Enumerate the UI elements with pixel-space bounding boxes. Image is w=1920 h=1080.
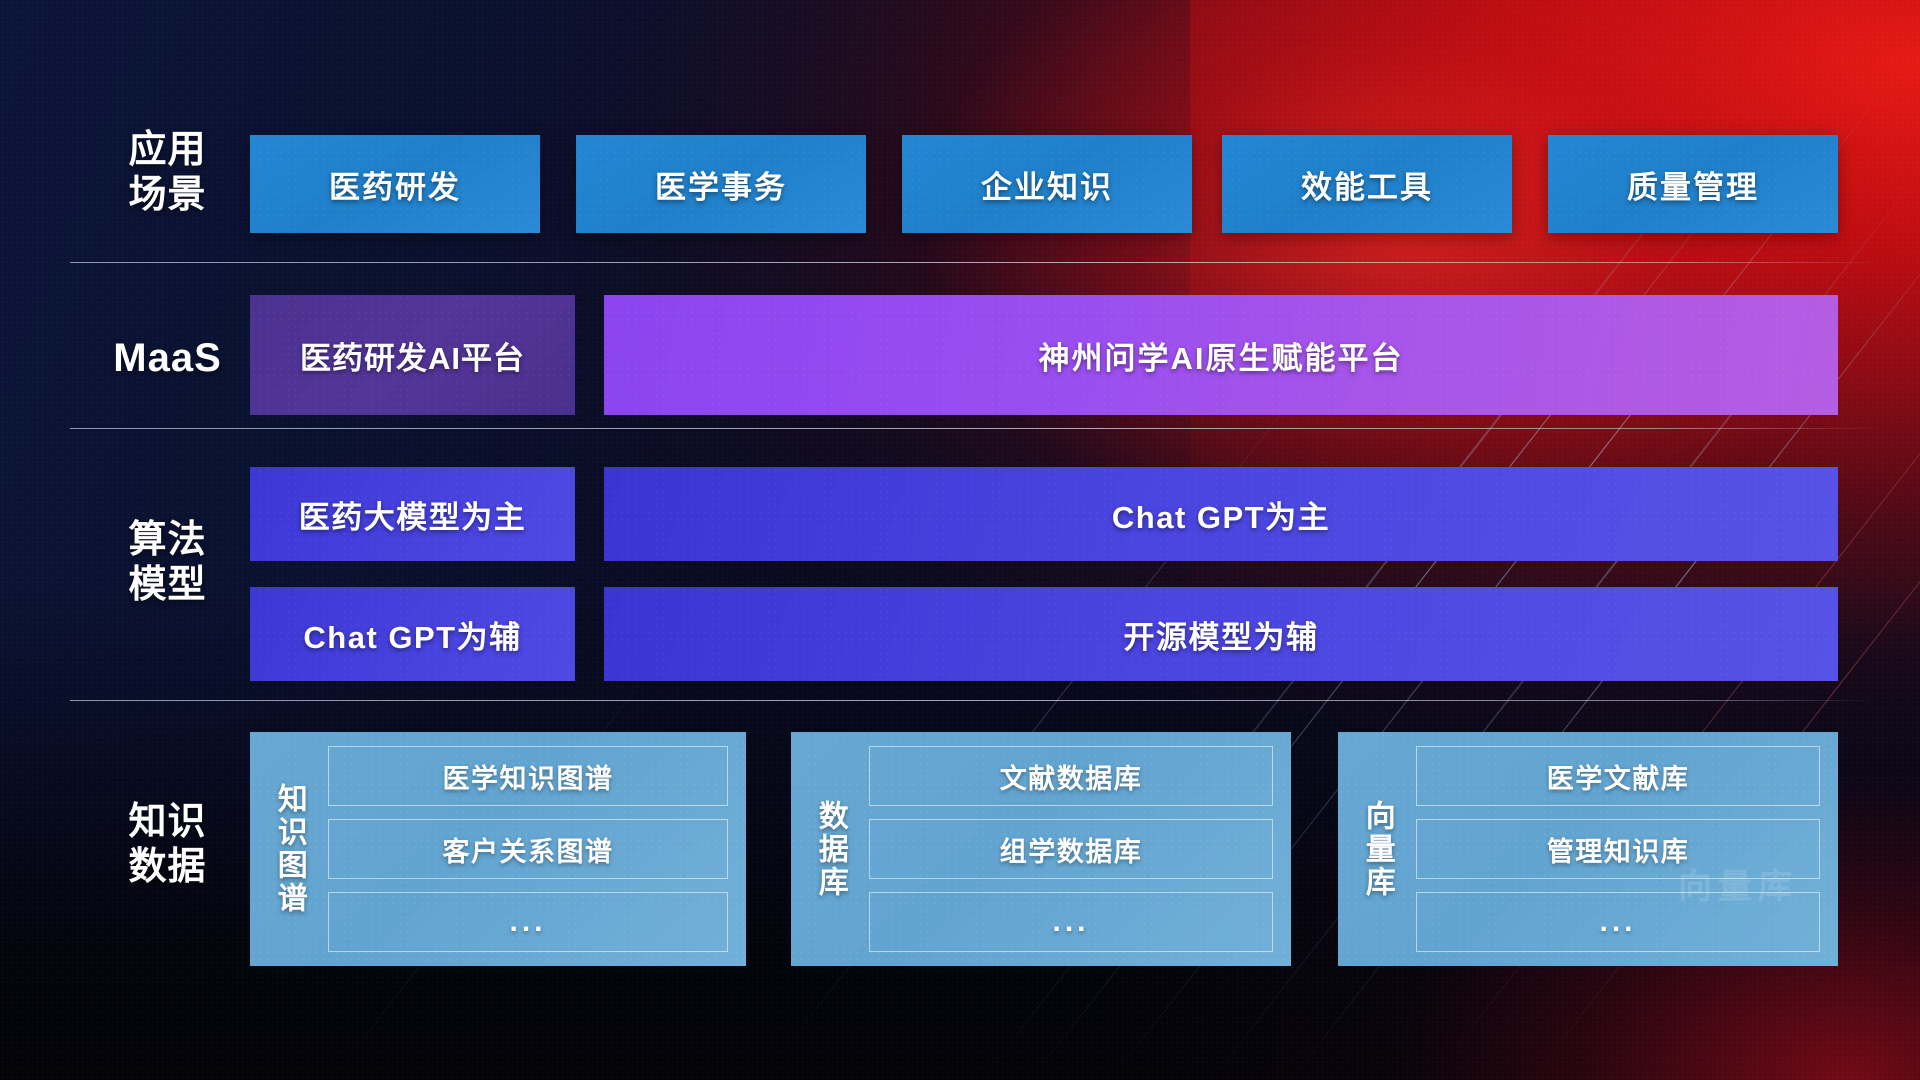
knowledge-item-more[interactable]: ...: [328, 892, 728, 952]
app-card-1-label: 医药研发: [329, 162, 461, 207]
row-label-algorithm: 算法 模型: [85, 518, 250, 608]
algo-card-chatgpt-secondary-label: Chat GPT为辅: [303, 612, 521, 657]
knowledge-item-more[interactable]: ...: [1416, 892, 1820, 952]
app-card-5-label: 质量管理: [1627, 162, 1759, 207]
algo-card-chatgpt-secondary[interactable]: Chat GPT为辅: [250, 587, 575, 681]
knowledge-item-more[interactable]: ...: [869, 892, 1273, 952]
algo-card-opensource-secondary-label: 开源模型为辅: [1124, 612, 1319, 657]
app-card-1[interactable]: 医药研发: [250, 135, 540, 233]
app-card-3[interactable]: 企业知识: [902, 135, 1192, 233]
app-card-5[interactable]: 质量管理: [1548, 135, 1838, 233]
row-label-maas: MaaS: [85, 335, 250, 382]
knowledge-item[interactable]: 医学知识图谱: [328, 746, 728, 806]
knowledge-panel-graph-items: 医学知识图谱 客户关系图谱 ...: [328, 746, 728, 952]
row-label-application: 应用 场景: [85, 128, 250, 218]
knowledge-panel-vector-title: 向量库: [1338, 746, 1416, 952]
app-card-4-label: 效能工具: [1301, 162, 1433, 207]
knowledge-item[interactable]: 医学文献库: [1416, 746, 1820, 806]
knowledge-panel-graph[interactable]: 知识图谱 医学知识图谱 客户关系图谱 ...: [250, 732, 746, 966]
maas-card-drug-ai-platform[interactable]: 医药研发AI平台: [250, 295, 575, 415]
divider-algorithm-knowledge: [70, 700, 1880, 701]
knowledge-panel-vector-items: 医学文献库 管理知识库 ...: [1416, 746, 1820, 952]
algo-card-chatgpt-primary-label: Chat GPT为主: [1112, 492, 1330, 537]
maas-card-shenzhou-platform[interactable]: 神州问学AI原生赋能平台: [604, 295, 1838, 415]
maas-card-drug-ai-platform-label: 医药研发AI平台: [300, 333, 525, 378]
algo-card-drug-model-primary-label: 医药大模型为主: [299, 492, 527, 537]
divider-maas-algorithm: [70, 428, 1880, 429]
divider-application-maas: [70, 262, 1880, 263]
knowledge-panel-database[interactable]: 数据库 文献数据库 组学数据库 ...: [791, 732, 1291, 966]
maas-card-shenzhou-platform-label: 神州问学AI原生赋能平台: [1039, 333, 1404, 378]
row-label-knowledge: 知识 数据: [85, 800, 250, 890]
knowledge-panel-database-title: 数据库: [791, 746, 869, 952]
knowledge-item[interactable]: 客户关系图谱: [328, 819, 728, 879]
app-card-2[interactable]: 医学事务: [576, 135, 866, 233]
algo-card-drug-model-primary[interactable]: 医药大模型为主: [250, 467, 575, 561]
algo-card-chatgpt-primary[interactable]: Chat GPT为主: [604, 467, 1838, 561]
knowledge-panel-graph-title: 知识图谱: [250, 746, 328, 952]
app-card-3-label: 企业知识: [981, 162, 1113, 207]
app-card-4[interactable]: 效能工具: [1222, 135, 1512, 233]
knowledge-item[interactable]: 管理知识库: [1416, 819, 1820, 879]
knowledge-item[interactable]: 文献数据库: [869, 746, 1273, 806]
knowledge-panel-vector[interactable]: 向量库 向量库 医学文献库 管理知识库 ...: [1338, 732, 1838, 966]
algo-card-opensource-secondary[interactable]: 开源模型为辅: [604, 587, 1838, 681]
app-card-2-label: 医学事务: [655, 162, 787, 207]
knowledge-panel-database-items: 文献数据库 组学数据库 ...: [869, 746, 1273, 952]
diagram-canvas: 应用 场景 医药研发 医学事务 企业知识 效能工具 质量管理 MaaS 医药研发…: [0, 0, 1920, 1080]
knowledge-item[interactable]: 组学数据库: [869, 819, 1273, 879]
